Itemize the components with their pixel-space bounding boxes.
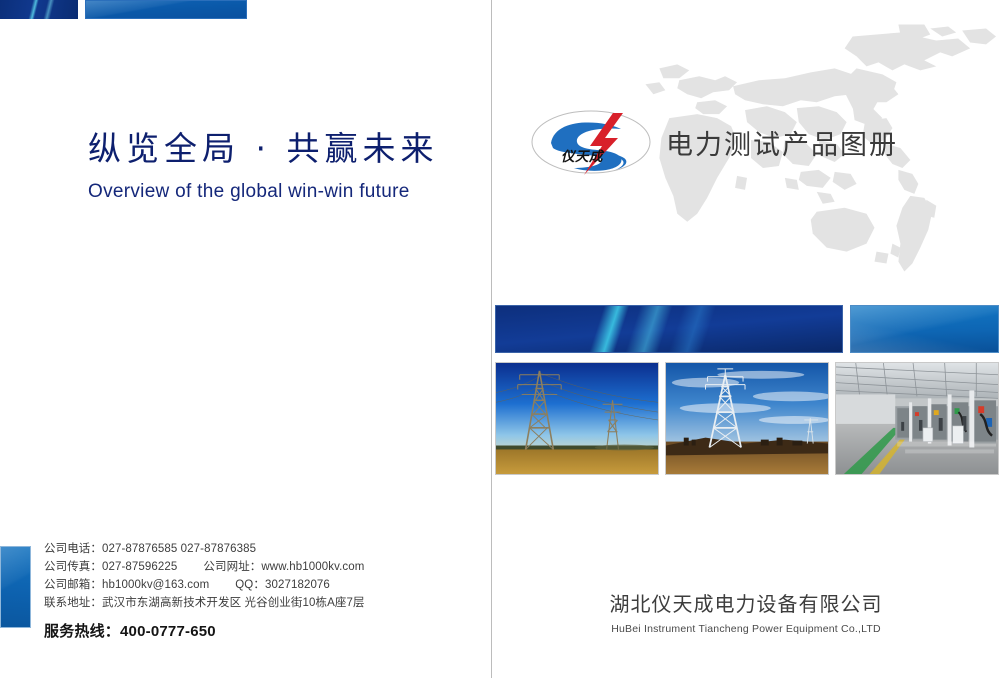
- accent-band-light: [850, 305, 999, 353]
- website-value: www.hb1000kv.com: [261, 561, 364, 573]
- headline-english: Overview of the global win-win future: [88, 181, 418, 203]
- top-accent-bar-right: [85, 0, 247, 19]
- brochure-spread: 纵览全局 · 共赢未来 Overview of the global win-w…: [0, 0, 1000, 678]
- phone-value: 027-87876585 027-87876385: [102, 543, 256, 555]
- qq-value: 3027182076: [265, 579, 330, 591]
- address-label: 联系地址：: [44, 597, 102, 609]
- hotline-value: 400-0777-650: [120, 623, 216, 640]
- back-cover-page: 纵览全局 · 共赢未来 Overview of the global win-w…: [0, 0, 491, 678]
- contact-row-address: 联系地址：武汉市东湖高新技术开发区 光谷创业街10栋A座7层: [44, 594, 444, 612]
- service-hotline: 服务热线：400-0777-650: [44, 620, 444, 641]
- qq-label: QQ：: [235, 579, 265, 591]
- top-accent-bar-left: [0, 0, 78, 19]
- cover-photo-strip: [495, 362, 1000, 475]
- phone-label: 公司电话：: [44, 543, 102, 555]
- cover-title: 电力测试产品图册: [666, 123, 898, 162]
- contact-row-email-qq: 公司邮箱：hb1000kv@163.comQQ：3027182076: [44, 576, 444, 594]
- company-name-english: HuBei Instrument Tiancheng Power Equipme…: [492, 623, 1000, 635]
- website-label: 公司网址：: [203, 561, 261, 573]
- yitiancheng-logo-icon: 仪天成: [530, 106, 652, 178]
- photo-transmission-towers-field: [495, 362, 659, 475]
- footer-blue-block: [0, 546, 31, 628]
- contact-info-block: 公司电话：027-87876585 027-87876385 公司传真：027-…: [44, 540, 444, 641]
- photo-lattice-tower-construction: [665, 362, 829, 475]
- photo-factory-assembly-line: [835, 362, 999, 475]
- contact-row-phone: 公司电话：027-87876585 027-87876385: [44, 540, 444, 558]
- hotline-label: 服务热线：: [44, 623, 120, 640]
- accent-band-dark: [495, 305, 843, 353]
- cover-brand-row: 仪天成 电力测试产品图册: [530, 106, 898, 178]
- back-cover-headline: 纵览全局 · 共赢未来 Overview of the global win-w…: [88, 128, 418, 203]
- company-name-block: 湖北仪天成电力设备有限公司 HuBei Instrument Tiancheng…: [492, 588, 1000, 635]
- company-name-chinese: 湖北仪天成电力设备有限公司: [492, 588, 1000, 617]
- email-label: 公司邮箱：: [44, 579, 102, 591]
- headline-chinese: 纵览全局 · 共赢未来: [88, 128, 418, 169]
- svg-text:仪天成: 仪天成: [561, 149, 605, 165]
- fax-value: 027-87596225: [102, 561, 177, 573]
- fax-label: 公司传真：: [44, 561, 102, 573]
- address-value: 武汉市东湖高新技术开发区 光谷创业街10栋A座7层: [102, 597, 365, 609]
- front-cover-page: 仪天成 电力测试产品图册: [492, 0, 1000, 678]
- contact-row-fax-website: 公司传真：027-87596225公司网址：www.hb1000kv.com: [44, 558, 444, 576]
- email-value: hb1000kv@163.com: [102, 579, 209, 591]
